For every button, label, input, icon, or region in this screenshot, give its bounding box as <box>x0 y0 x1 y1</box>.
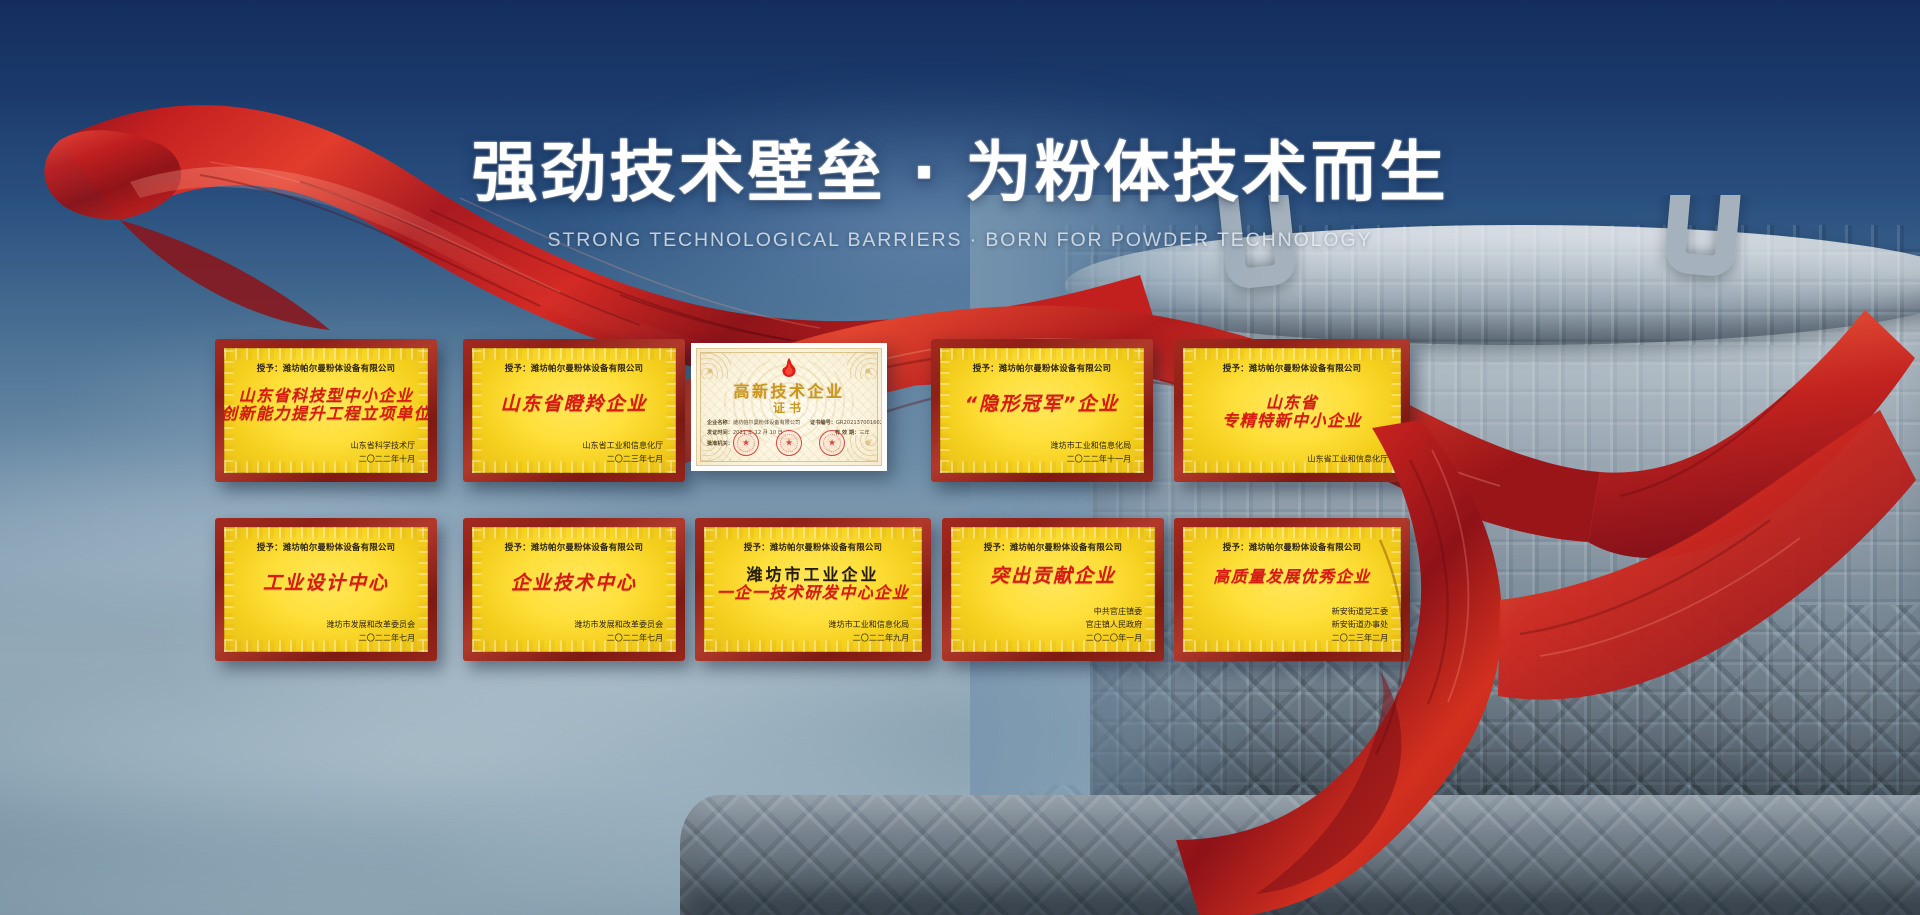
plaque-title-line: 山东省 <box>1266 394 1319 412</box>
plaque-issuer: 潍坊市发展和改革委员会 二〇二二年七月 <box>242 618 419 647</box>
corner-ornament-icon <box>847 353 877 379</box>
plaque-title: 潍坊市工业企业 一企一技术研发中心企业 <box>713 551 913 617</box>
plaque-title-line: 山东省瞪羚企业 <box>500 394 647 415</box>
plaque-title-line: 企业技术中心 <box>511 573 637 594</box>
plaque-title: 山东省瞪羚企业 <box>481 372 667 438</box>
official-seal-icon <box>776 430 802 456</box>
plaque-one-enterprise-one-tech-rd-center[interactable]: 授予：潍坊帕尔曼粉体设备有限公司 潍坊市工业企业 一企一技术研发中心企业 潍坊市… <box>695 518 931 661</box>
plaque-title-line: 山东省科技型中小企业 <box>238 387 413 405</box>
plaque-issuer-name: 潍坊市发展和改革委员会 <box>490 618 663 631</box>
certificate-field-number: 证书编号：GR202137001602 <box>810 418 882 428</box>
plaque-industrial-design-center[interactable]: 授予：潍坊帕尔曼粉体设备有限公司 工业设计中心 潍坊市发展和改革委员会 二〇二二… <box>215 518 437 661</box>
corner-ornament-icon <box>701 353 731 379</box>
certificate-high-tech-enterprise[interactable]: 高新技术企业 证书 企业名称：潍坊帕尔曼粉体设备有限公司 证书编号：GR2021… <box>691 343 887 471</box>
plaque-issuer: 潍坊市发展和改革委员会 二〇二二年七月 <box>490 618 667 647</box>
plaque-shandong-sme-innovation[interactable]: 授予：潍坊帕尔曼粉体设备有限公司 山东省科技型中小企业 创新能力提升工程立项单位… <box>215 339 437 482</box>
plaque-issuer-name: 山东省工业和信息化厅 <box>490 439 663 452</box>
plaque-shandong-gazelle[interactable]: 授予：潍坊帕尔曼粉体设备有限公司 山东省瞪羚企业 山东省工业和信息化厅 二〇二三… <box>463 339 685 482</box>
red-silk-ribbon-lower <box>1080 420 1920 915</box>
plaque-title: 工业设计中心 <box>233 551 419 617</box>
plaque-issue-date: 二〇二二年十月 <box>242 453 415 466</box>
plaque-issue-date: 二〇二二年九月 <box>723 632 909 645</box>
plaque-title-line: 创新能力提升工程立项单位 <box>224 405 428 423</box>
plaque-issuer-name: 潍坊市发展和改革委员会 <box>242 618 415 631</box>
plaque-title: 企业技术中心 <box>481 551 667 617</box>
certificate-subtitle: 证书 <box>697 399 881 416</box>
official-seal-icon <box>733 430 759 456</box>
plaque-issuer: 山东省科学技术厅 二〇二二年十月 <box>242 439 419 468</box>
plaque-issuer-name: 潍坊市工业和信息化局 <box>723 618 909 631</box>
plaque-issue-date: 二〇二二年七月 <box>490 632 663 645</box>
plaque-title-line: “隐形冠军”企业 <box>965 394 1119 415</box>
certificate-field-company: 企业名称：潍坊帕尔曼粉体设备有限公司 <box>707 418 800 428</box>
plaque-issuer: 山东省工业和信息化厅 二〇二三年七月 <box>490 439 667 468</box>
plaque-title: 山东省科技型中小企业 创新能力提升工程立项单位 <box>233 372 419 438</box>
plaque-issuer: 潍坊市工业和信息化局 二〇二二年九月 <box>723 618 913 647</box>
plaque-title-line: 潍坊市工业企业 <box>746 566 879 584</box>
plaque-enterprise-tech-center[interactable]: 授予：潍坊帕尔曼粉体设备有限公司 企业技术中心 潍坊市发展和改革委员会 二〇二二… <box>463 518 685 661</box>
plaque-issue-date: 二〇二三年七月 <box>490 453 663 466</box>
plaque-issue-date: 二〇二二年七月 <box>242 632 415 645</box>
page-subtitle: STRONG TECHNOLOGICAL BARRIERS · BORN FOR… <box>0 229 1920 252</box>
plaque-issuer-name: 山东省科学技术厅 <box>242 439 415 452</box>
certificate-seals <box>697 430 881 456</box>
official-seal-icon <box>819 430 845 456</box>
title-block: 强劲技术壁垒 · 为粉体技术而生 STRONG TECHNOLOGICAL BA… <box>0 138 1920 252</box>
plaque-title-line: 工业设计中心 <box>263 573 389 594</box>
banner-stage: 强劲技术壁垒 · 为粉体技术而生 STRONG TECHNOLOGICAL BA… <box>0 0 1920 915</box>
page-title: 强劲技术壁垒 · 为粉体技术而生 <box>0 138 1920 207</box>
plaque-title-line: 一企一技术研发中心企业 <box>717 584 910 602</box>
